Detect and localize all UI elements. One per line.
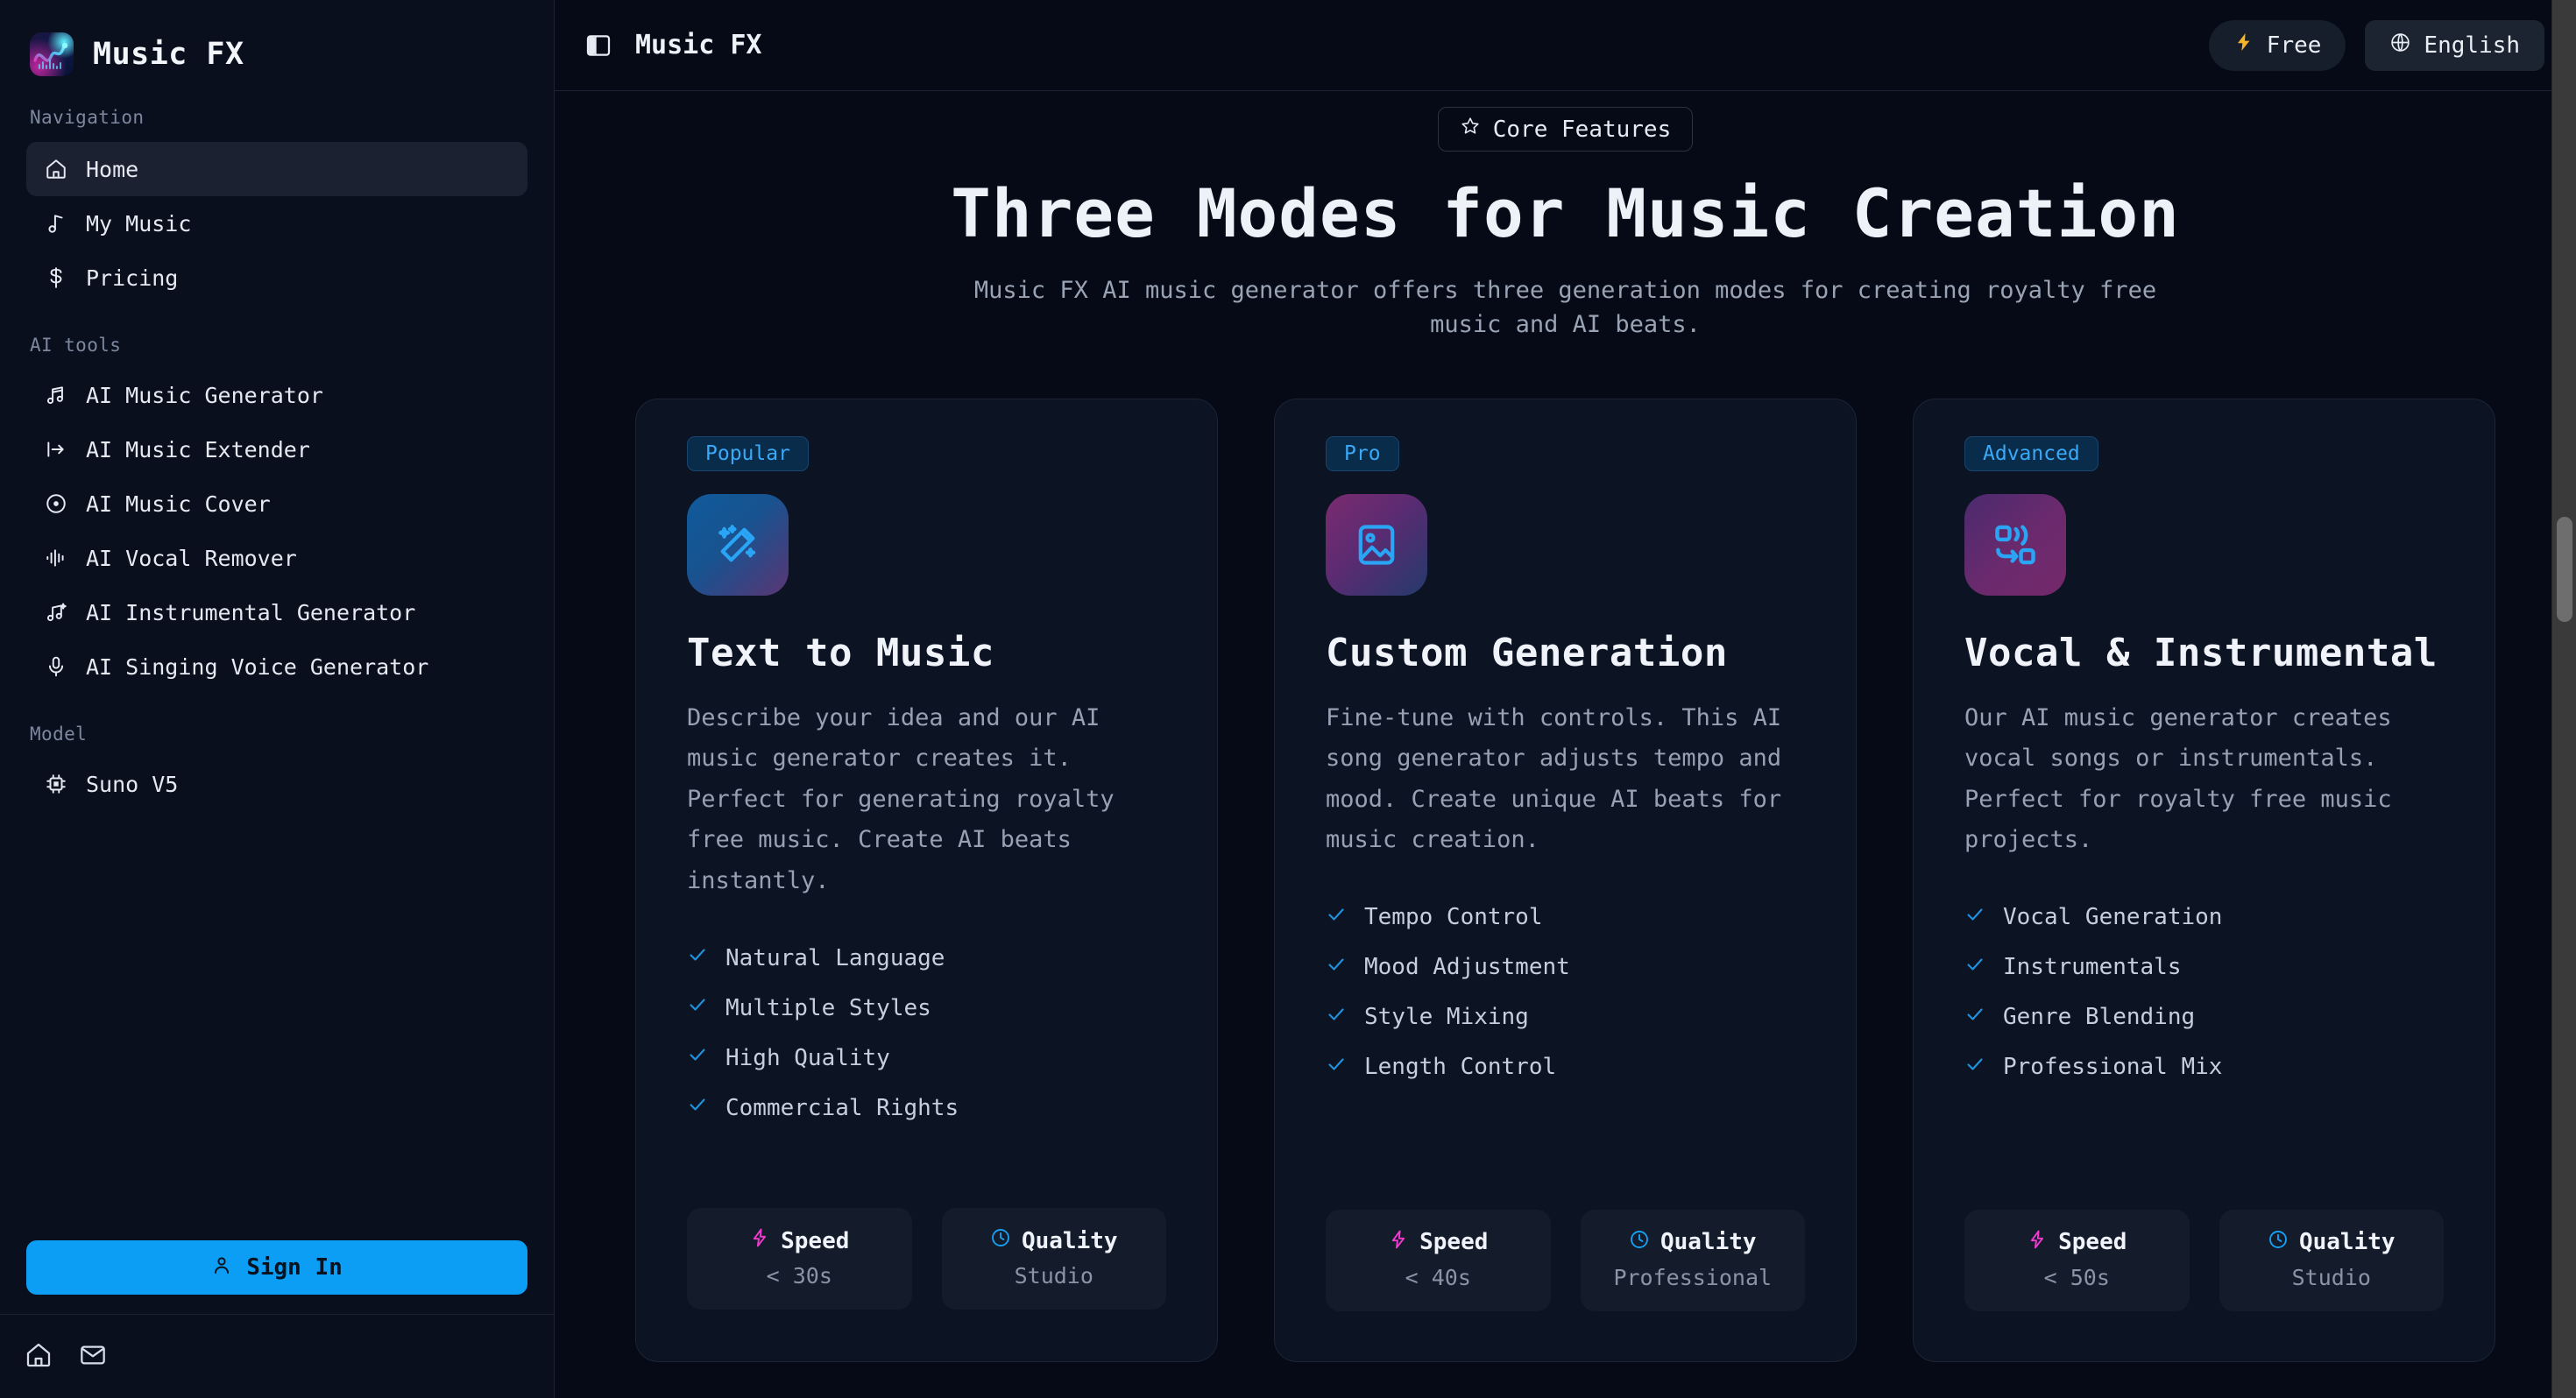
check-icon xyxy=(1326,1054,1347,1081)
clock-icon xyxy=(2268,1229,2289,1256)
stat-label: Speed xyxy=(1419,1229,1488,1255)
sidebar-item-label: AI Music Extender xyxy=(86,437,310,462)
stat-value: < 50s xyxy=(1964,1265,2190,1290)
hero-subtitle: Music FX AI music generator offers three… xyxy=(952,273,2179,342)
stat-value: < 40s xyxy=(1326,1265,1551,1290)
card-description: Fine-tune with controls. This AI song ge… xyxy=(1326,698,1805,861)
sidebar-item-ai-music-cover[interactable]: AI Music Cover xyxy=(26,477,527,531)
core-features-label: Core Features xyxy=(1493,116,1672,143)
nav-group-model: Suno V5 xyxy=(0,757,554,811)
cpu-chip-icon xyxy=(44,772,68,796)
brand-title: Music FX xyxy=(93,37,244,72)
feature-label: Multiple Styles xyxy=(725,995,931,1021)
home-icon[interactable] xyxy=(25,1341,53,1373)
page-title: Music FX xyxy=(635,30,762,60)
feature-label: Tempo Control xyxy=(1364,904,1543,930)
feature-list: Tempo Control Mood Adjustment Style Mixi… xyxy=(1326,893,1805,1092)
status-badge: Advanced xyxy=(1964,436,2098,471)
list-item: Genre Blending xyxy=(1964,992,2444,1042)
stat-label: Quality xyxy=(1022,1228,1118,1254)
scrollbar-thumb[interactable] xyxy=(2557,517,2572,622)
home-icon xyxy=(44,157,68,181)
dollar-icon xyxy=(44,265,68,290)
app-root: Music FX Navigation Home My Music Pricin… xyxy=(0,0,2576,1398)
sidebar-item-my-music[interactable]: My Music xyxy=(26,196,527,251)
check-icon xyxy=(1326,1004,1347,1031)
feature-label: Vocal Generation xyxy=(2003,904,2222,930)
sidebar-footer xyxy=(0,1314,554,1398)
note-sparkle-icon xyxy=(44,600,68,625)
top-bar-actions: Free English xyxy=(2209,20,2544,71)
check-icon xyxy=(687,1094,708,1121)
sidebar-spacer xyxy=(0,811,554,1240)
feature-cards: Popular Text to Music Describe your idea… xyxy=(555,342,2576,1362)
sign-in-button[interactable]: Sign In xyxy=(26,1240,527,1295)
sidebar: Music FX Navigation Home My Music Pricin… xyxy=(0,0,555,1398)
check-icon xyxy=(1964,1004,1985,1031)
clock-icon xyxy=(990,1227,1011,1254)
mail-icon[interactable] xyxy=(79,1341,107,1373)
list-item: Vocal Generation xyxy=(1964,893,2444,943)
feature-label: Style Mixing xyxy=(1364,1004,1529,1030)
feature-label: Mood Adjustment xyxy=(1364,954,1570,980)
language-selector[interactable]: English xyxy=(2365,20,2544,71)
feature-list: Vocal Generation Instrumentals Genre Ble… xyxy=(1964,893,2444,1092)
sidebar-item-ai-music-extender[interactable]: AI Music Extender xyxy=(26,422,527,477)
list-item: Multiple Styles xyxy=(687,983,1166,1033)
stat-quality: Quality Studio xyxy=(2219,1210,2445,1311)
sidebar-item-label: AI Vocal Remover xyxy=(86,546,297,571)
music-wave-logo-icon xyxy=(30,32,74,76)
sidebar-item-ai-vocal-remover[interactable]: AI Vocal Remover xyxy=(26,531,527,585)
list-item: Style Mixing xyxy=(1326,992,1805,1042)
status-badge: Popular xyxy=(687,436,809,471)
core-features-badge: Core Features xyxy=(1438,107,1694,152)
magic-wand-icon xyxy=(687,494,789,596)
card-custom-generation[interactable]: Pro Custom Generation Fine-tune with con… xyxy=(1274,399,1857,1362)
list-item: Tempo Control xyxy=(1326,893,1805,943)
user-icon xyxy=(211,1254,232,1281)
sidebar-panel-icon[interactable] xyxy=(583,30,614,61)
stat-value: < 30s xyxy=(687,1263,912,1289)
card-text-to-music[interactable]: Popular Text to Music Describe your idea… xyxy=(635,399,1218,1362)
feature-label: Length Control xyxy=(1364,1054,1556,1080)
sidebar-item-label: My Music xyxy=(86,211,191,237)
sidebar-section-model-label: Model xyxy=(0,724,554,745)
check-icon xyxy=(1964,904,1985,931)
sidebar-item-label: Suno V5 xyxy=(86,772,178,797)
card-vocal-instrumental[interactable]: Advanced Vocal & Instrumental Our AI mus… xyxy=(1913,399,2495,1362)
feature-label: Commercial Rights xyxy=(725,1095,959,1121)
disc-icon xyxy=(44,491,68,516)
stat-label: Quality xyxy=(1660,1229,1757,1255)
card-title: Custom Generation xyxy=(1326,631,1805,675)
lightning-icon xyxy=(2027,1229,2048,1256)
feature-label: Professional Mix xyxy=(2003,1054,2222,1080)
star-icon xyxy=(1460,116,1481,143)
stat-quality: Quality Professional xyxy=(1581,1210,1806,1311)
card-description: Describe your idea and our AI music gene… xyxy=(687,698,1166,901)
feature-label: High Quality xyxy=(725,1045,890,1071)
sidebar-item-ai-music-generator[interactable]: AI Music Generator xyxy=(26,368,527,422)
hero-title: Three Modes for Music Creation xyxy=(555,174,2576,252)
stat-speed: Speed < 30s xyxy=(687,1208,912,1310)
content-scroll-area: Core Features Three Modes for Music Crea… xyxy=(555,91,2576,1398)
globe-icon xyxy=(2389,32,2411,60)
check-icon xyxy=(1964,954,1985,981)
list-item: High Quality xyxy=(687,1033,1166,1083)
sidebar-item-label: AI Music Generator xyxy=(86,383,323,408)
audio-waveform-icon xyxy=(44,546,68,570)
sign-in-label: Sign In xyxy=(246,1254,343,1281)
brand[interactable]: Music FX xyxy=(0,0,554,84)
stat-label: Speed xyxy=(781,1228,849,1254)
sidebar-item-suno-v5[interactable]: Suno V5 xyxy=(26,757,527,811)
double-note-icon xyxy=(44,383,68,407)
feature-label: Natural Language xyxy=(725,945,945,971)
stat-quality: Quality Studio xyxy=(942,1208,1167,1310)
vertical-scrollbar[interactable] xyxy=(2551,0,2576,1398)
music-note-icon xyxy=(44,211,68,236)
card-stats: Speed < 30s Quality Studio xyxy=(687,1208,1166,1310)
card-description: Our AI music generator creates vocal son… xyxy=(1964,698,2444,861)
nav-group-aitools: AI Music Generator AI Music Extender AI … xyxy=(0,368,554,694)
sidebar-item-home[interactable]: Home xyxy=(26,142,527,196)
sidebar-item-pricing[interactable]: Pricing xyxy=(26,251,527,305)
sidebar-item-label: AI Music Cover xyxy=(86,491,271,517)
card-stats: Speed < 40s Quality Professional xyxy=(1326,1210,1805,1311)
check-icon xyxy=(687,944,708,971)
list-item: Mood Adjustment xyxy=(1326,943,1805,992)
stat-value: Studio xyxy=(942,1263,1167,1289)
lightning-icon xyxy=(749,1227,770,1254)
lightning-icon xyxy=(1388,1229,1409,1256)
check-icon xyxy=(1326,954,1347,981)
check-icon xyxy=(1326,904,1347,931)
list-item: Length Control xyxy=(1326,1042,1805,1092)
sidebar-item-ai-instrumental-generator[interactable]: AI Instrumental Generator xyxy=(26,585,527,639)
check-icon xyxy=(1964,1054,1985,1081)
sidebar-item-label: AI Singing Voice Generator xyxy=(86,654,428,680)
list-item: Instrumentals xyxy=(1964,943,2444,992)
stat-value: Professional xyxy=(1581,1265,1806,1290)
free-badge-label: Free xyxy=(2267,32,2322,59)
sidebar-item-ai-singing-voice-generator[interactable]: AI Singing Voice Generator xyxy=(26,639,527,694)
microphone-icon xyxy=(44,654,68,679)
main-area: Music FX Free English Core Features Thre… xyxy=(555,0,2576,1398)
card-title: Vocal & Instrumental xyxy=(1964,631,2444,675)
list-item: Natural Language xyxy=(687,933,1166,983)
card-title: Text to Music xyxy=(687,631,1166,675)
card-stats: Speed < 50s Quality Studio xyxy=(1964,1210,2444,1311)
sidebar-item-label: Pricing xyxy=(86,265,178,291)
check-icon xyxy=(687,1044,708,1071)
stat-speed: Speed < 50s xyxy=(1964,1210,2190,1311)
sidebar-item-label: AI Instrumental Generator xyxy=(86,600,415,625)
list-item: Commercial Rights xyxy=(687,1083,1166,1133)
language-label: English xyxy=(2424,32,2520,59)
list-item: Professional Mix xyxy=(1964,1042,2444,1092)
sidebar-section-aitools-label: AI tools xyxy=(0,335,554,356)
status-badge: Pro xyxy=(1326,436,1399,471)
free-badge[interactable]: Free xyxy=(2209,20,2346,71)
feature-label: Instrumentals xyxy=(2003,954,2182,980)
feature-label: Genre Blending xyxy=(2003,1004,2195,1030)
stat-value: Studio xyxy=(2219,1265,2445,1290)
feature-list: Natural Language Multiple Styles High Qu… xyxy=(687,933,1166,1133)
stat-label: Quality xyxy=(2299,1229,2396,1255)
stat-speed: Speed < 40s xyxy=(1326,1210,1551,1311)
stat-label: Speed xyxy=(2058,1229,2127,1255)
clock-icon xyxy=(1629,1229,1650,1256)
sidebar-section-navigation-label: Navigation xyxy=(0,107,554,128)
check-icon xyxy=(687,994,708,1021)
lightning-icon xyxy=(2233,32,2254,59)
audio-routing-icon xyxy=(1964,494,2066,596)
nav-group-navigation: Home My Music Pricing xyxy=(0,142,554,305)
sidebar-item-label: Home xyxy=(86,157,138,182)
arrow-right-bar-icon xyxy=(44,437,68,462)
top-bar: Music FX Free English xyxy=(555,0,2576,91)
image-icon xyxy=(1326,494,1427,596)
